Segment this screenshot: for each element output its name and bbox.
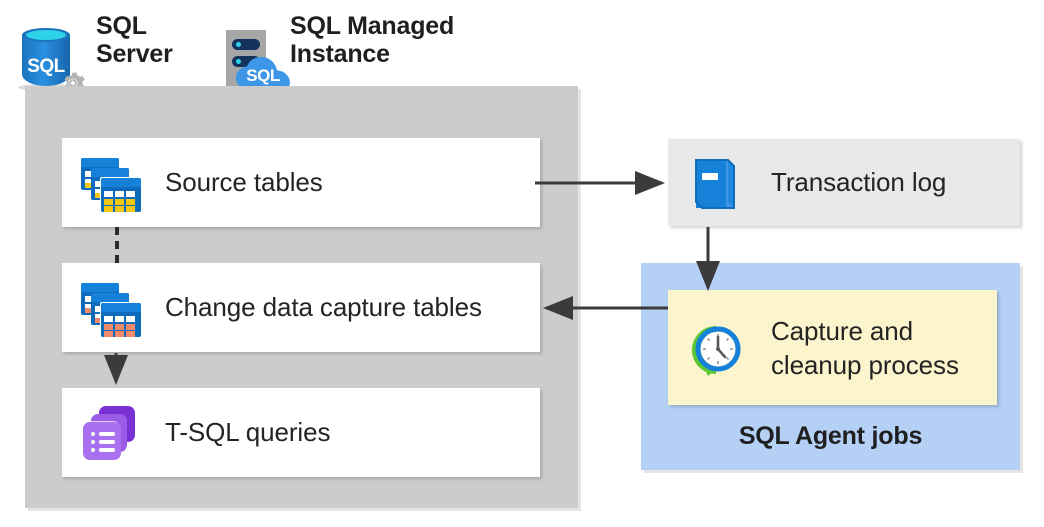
transaction-log-box[interactable]: Transaction log (668, 139, 1020, 226)
cloud-sql-label: SQL (236, 66, 290, 86)
sql-server-title: SQL Server (96, 12, 216, 68)
book-glyph (693, 158, 739, 210)
stacked-tables-icon (79, 152, 141, 214)
table-card-header (91, 168, 129, 177)
source-tables-box[interactable]: Source tables (62, 138, 540, 227)
sql-mi-title-line2: Instance (290, 40, 500, 68)
change-data-capture-tables-label: Change data capture tables (165, 292, 482, 323)
source-tables-label: Source tables (165, 167, 323, 198)
cylinder-top-fill (26, 30, 66, 40)
clock-refresh-icon (685, 317, 747, 379)
table-card-header (81, 283, 119, 292)
tsql-queries-box[interactable]: T-SQL queries (62, 388, 540, 477)
diagram-canvas: SQL SQL Server SQL SQL Managed Instance (0, 0, 1044, 527)
table-card-header (101, 303, 141, 312)
table-card-header (91, 293, 129, 302)
sql-managed-instance-title: SQL Managed Instance (290, 12, 500, 68)
connector-source-to-cdc-dashed (115, 227, 119, 263)
book-icon (685, 152, 747, 214)
sql-server-title-line1: SQL (96, 12, 216, 40)
table-card-header (81, 158, 119, 167)
sql-mi-title-line1: SQL Managed (290, 12, 500, 40)
sql-agent-jobs-label: SQL Agent jobs (641, 422, 1020, 451)
query-card-front (83, 422, 121, 460)
rack-slot-1 (232, 39, 260, 50)
capture-and-cleanup-process-box[interactable]: Capture and cleanup process (668, 290, 997, 405)
tsql-queries-label: T-SQL queries (165, 417, 330, 448)
table-card-front (101, 303, 141, 337)
clock-glyph (689, 323, 743, 377)
stacked-tables-icon (79, 277, 141, 339)
rack-led-1 (236, 42, 241, 47)
capture-label-line1: Capture and (771, 314, 959, 348)
table-card-header (101, 178, 141, 187)
sql-server-title-line2: Server (96, 40, 216, 68)
transaction-log-label: Transaction log (771, 167, 946, 198)
query-list-icon (79, 402, 141, 464)
capture-label-line2: cleanup process (771, 348, 959, 382)
capture-and-cleanup-process-label: Capture and cleanup process (771, 314, 959, 382)
table-card-front (101, 178, 141, 212)
change-data-capture-tables-box[interactable]: Change data capture tables (62, 263, 540, 352)
